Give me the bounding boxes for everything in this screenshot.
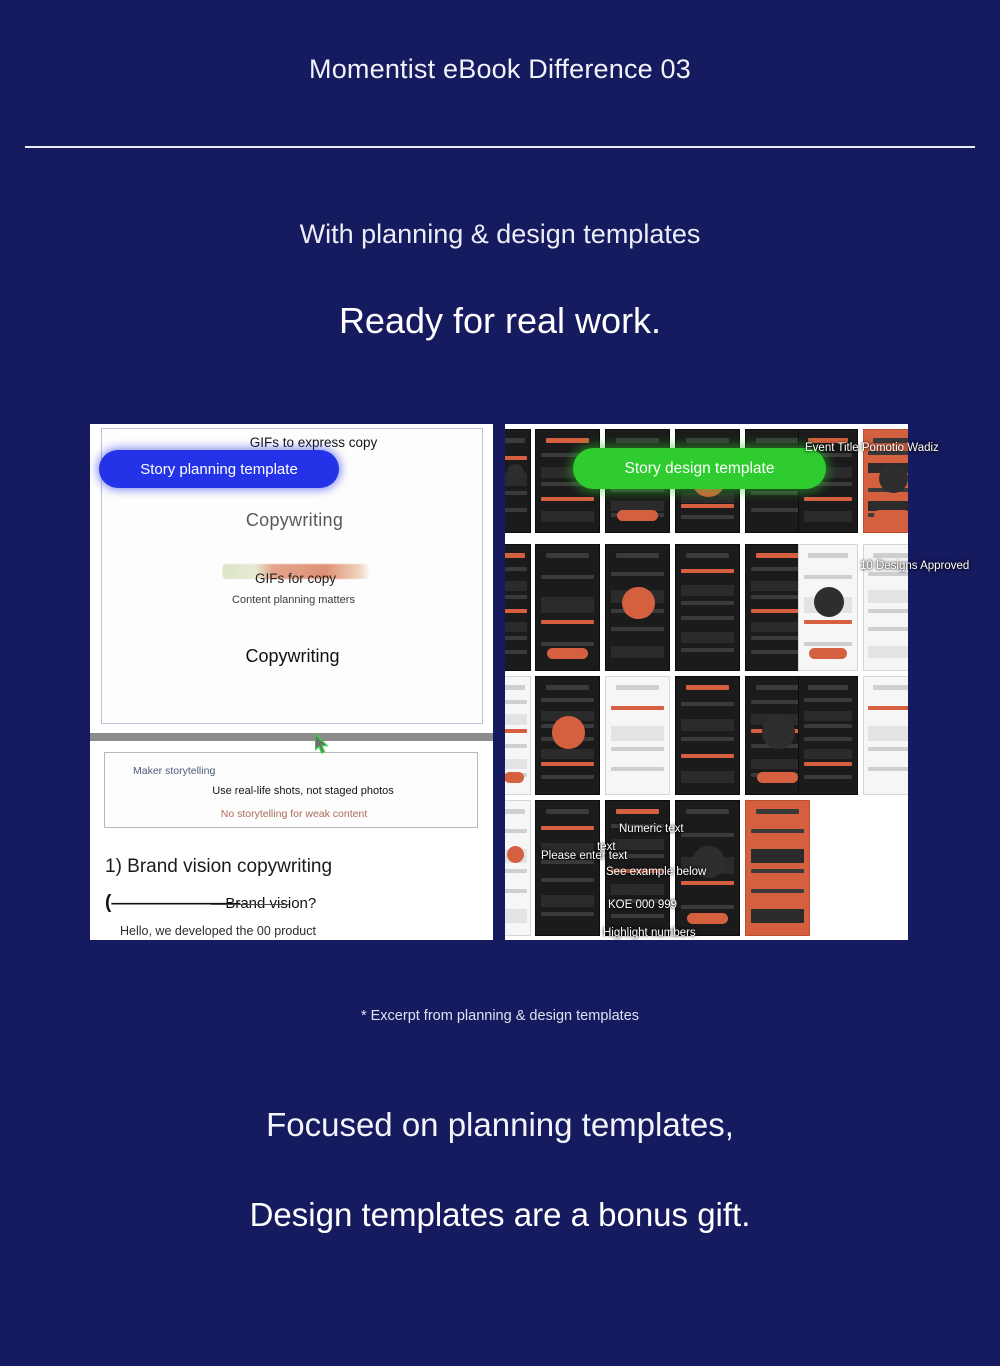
template-overlay-label: Event Title Pomotio Wadiz [805,442,939,454]
template-overlay-label: 10 Designs Approved [860,560,969,572]
page-title: Momentist eBook Difference 03 [0,54,1000,85]
outro-line-2: Design templates are a bonus gift. [0,1196,1000,1234]
intro-line-2: Ready for real work. [0,300,1000,342]
excerpt-caption: * Excerpt from planning & design templat… [0,1008,1000,1024]
template-overlay-label: Highlight numbers [603,927,696,939]
intro-line-1: With planning & design templates [0,219,1000,250]
template-overlay-label: KOE 000 999 [608,899,677,911]
template-overlay-label: Please enter text [541,850,627,862]
template-overlay-label: See example below [606,866,706,878]
outro-line-1: Focused on planning templates, [0,1106,1000,1144]
ebook-promo-page: Momentist eBook Difference 03 With plann… [0,0,1000,1366]
showcase-area: GIFs to express copy Story planning temp… [0,424,1000,940]
template-overlay-label: Numeric text [619,823,684,835]
overlay-annotation-layer: Event Title Pomotio Wadiz10 Designs Appr… [0,424,1000,940]
template-overlay-label: text [597,841,616,853]
header-divider [25,146,975,148]
